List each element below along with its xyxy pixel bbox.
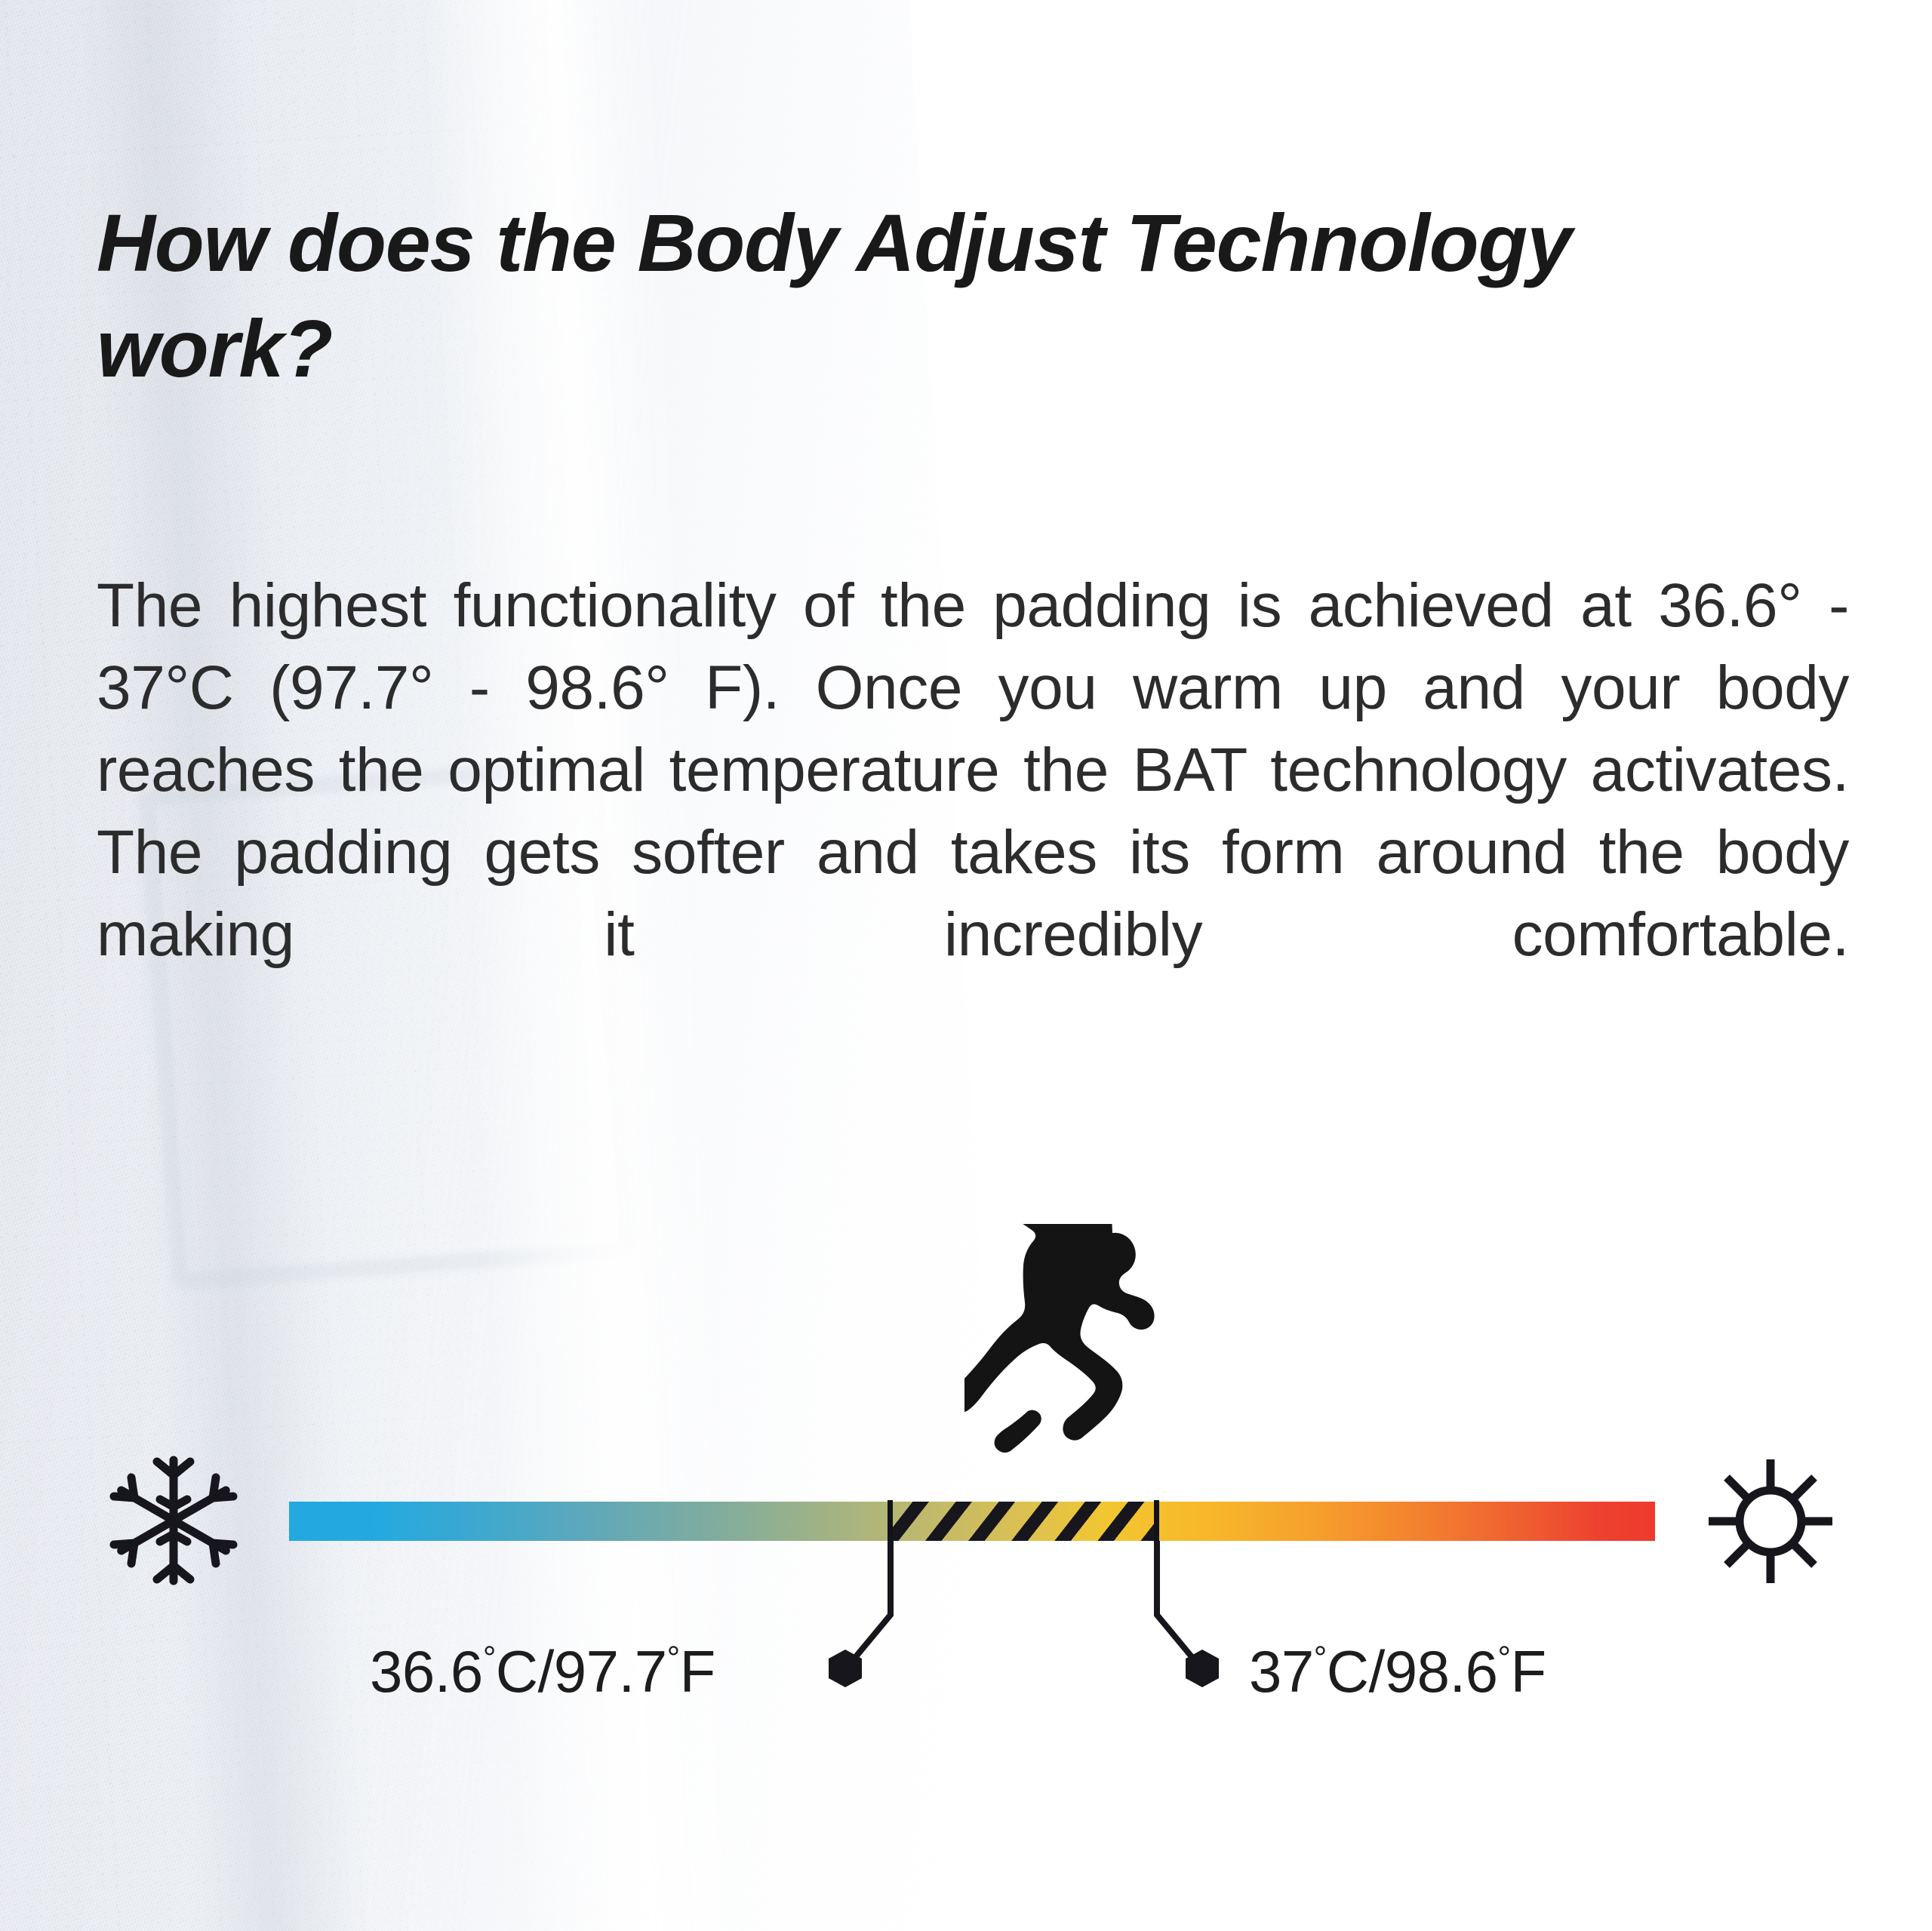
degree-symbol-low-c: ° <box>483 1640 496 1677</box>
degree-symbol-low-f: ° <box>667 1640 680 1677</box>
label-low-unit-c: C/97.7 <box>496 1638 667 1705</box>
label-high-unit-f: F <box>1511 1638 1546 1705</box>
runner-icon <box>964 1224 1168 1464</box>
zone-boundary-left <box>888 1500 893 1542</box>
body-paragraph: The highest functionality of the padding… <box>97 564 1849 1058</box>
snowflake-icon <box>106 1453 241 1588</box>
temperature-scale: 36.6°C/97.7°F 37°C/98.6°F <box>0 1207 1932 1796</box>
degree-symbol-high-c: ° <box>1314 1640 1327 1677</box>
label-low-value: 36.6 <box>370 1638 483 1705</box>
label-low-unit-f: F <box>680 1638 715 1705</box>
degree-symbol-high-f: ° <box>1498 1640 1511 1677</box>
label-high-value: 37 <box>1249 1638 1314 1705</box>
optimal-zone-hatch <box>890 1502 1157 1541</box>
label-high-unit-c: C/98.6 <box>1327 1638 1498 1705</box>
label-upper-threshold: 37°C/98.6°F <box>1249 1637 1546 1706</box>
sun-icon <box>1704 1455 1837 1588</box>
zone-boundary-right <box>1154 1500 1159 1542</box>
label-lower-threshold: 36.6°C/97.7°F <box>370 1637 715 1706</box>
temperature-gradient-bar <box>289 1502 1655 1541</box>
page-title: How does the Body Adjust Technology work… <box>97 190 1636 402</box>
hatch-stripes <box>890 1502 1157 1541</box>
